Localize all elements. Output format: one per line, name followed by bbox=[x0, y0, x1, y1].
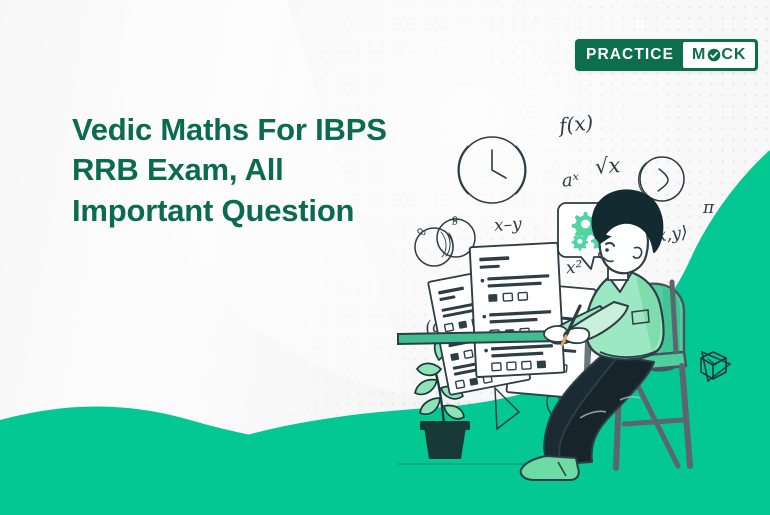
banner-root: f(x)√xaˣx–yx²π⟨x,y⟩(a,b)ab Vedic Maths F… bbox=[0, 0, 770, 515]
student-illustration bbox=[0, 0, 770, 515]
logo-letters-ck: CK bbox=[721, 46, 746, 64]
headline-line-3: Important Question bbox=[72, 191, 472, 231]
practicemock-logo[interactable]: PRACTICE M CK bbox=[575, 39, 758, 71]
headline-line-2: RRB Exam, All bbox=[72, 150, 472, 190]
logo-letter-m: M bbox=[692, 46, 706, 64]
check-circle-icon bbox=[707, 48, 721, 62]
cube-doodle bbox=[701, 352, 726, 379]
logo-word-practice: PRACTICE bbox=[578, 42, 683, 68]
page-title: Vedic Maths For IBPS RRB Exam, All Impor… bbox=[72, 110, 472, 231]
logo-word-mock: M CK bbox=[683, 42, 755, 68]
headline-line-1: Vedic Maths For IBPS bbox=[72, 110, 472, 150]
